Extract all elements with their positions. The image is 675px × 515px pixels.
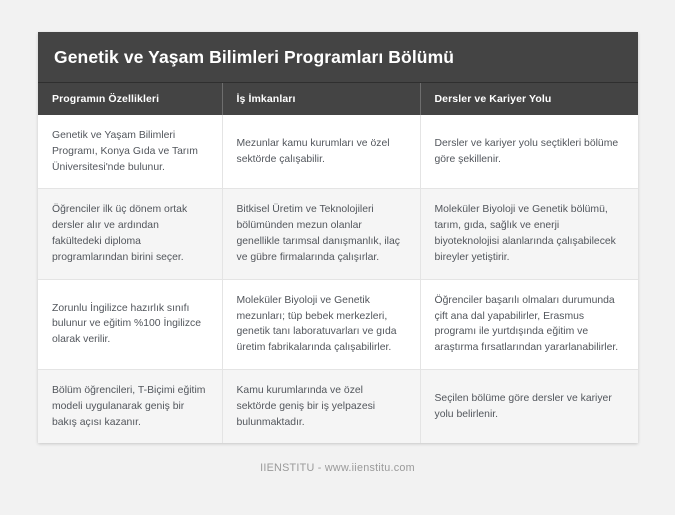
cell-jobs: Bitkisel Üretim ve Teknolojileri bölümün… [222, 189, 420, 279]
column-header-courses: Dersler ve Kariyer Yolu [420, 83, 638, 115]
cell-features: Genetik ve Yaşam Bilimleri Programı, Kon… [38, 115, 222, 189]
table-row: Genetik ve Yaşam Bilimleri Programı, Kon… [38, 115, 638, 189]
column-header-features: Programın Özellikleri [38, 83, 222, 115]
column-header-jobs: İş İmkanları [222, 83, 420, 115]
page-root: Genetik ve Yaşam Bilimleri Programları B… [0, 0, 675, 515]
table-row: Zorunlu İngilizce hazırlık sınıfı bulunu… [38, 279, 638, 369]
cell-features: Öğrenciler ilk üç dönem ortak dersler al… [38, 189, 222, 279]
table-header-row: Programın Özellikleri İş İmkanları Dersl… [38, 83, 638, 115]
table-title: Genetik ve Yaşam Bilimleri Programları B… [38, 32, 638, 83]
table-body: Genetik ve Yaşam Bilimleri Programı, Kon… [38, 115, 638, 443]
cell-jobs: Moleküler Biyoloji ve Genetik mezunları;… [222, 279, 420, 369]
cell-jobs: Kamu kurumlarında ve özel sektörde geniş… [222, 369, 420, 443]
cell-features: Bölüm öğrencileri, T-Biçimi eğitim model… [38, 369, 222, 443]
table-head: Programın Özellikleri İş İmkanları Dersl… [38, 83, 638, 115]
cell-features: Zorunlu İngilizce hazırlık sınıfı bulunu… [38, 279, 222, 369]
cell-courses: Moleküler Biyoloji ve Genetik bölümü, ta… [420, 189, 638, 279]
program-info-table: Programın Özellikleri İş İmkanları Dersl… [38, 83, 638, 443]
footer-credit: IIENSTITU - www.iienstitu.com [0, 462, 675, 474]
cell-courses: Öğrenciler başarılı olmaları durumunda ç… [420, 279, 638, 369]
cell-courses: Seçilen bölüme göre dersler ve kariyer y… [420, 369, 638, 443]
table-row: Öğrenciler ilk üç dönem ortak dersler al… [38, 189, 638, 279]
cell-jobs: Mezunlar kamu kurumları ve özel sektörde… [222, 115, 420, 189]
table-row: Bölüm öğrencileri, T-Biçimi eğitim model… [38, 369, 638, 443]
info-table-card: Genetik ve Yaşam Bilimleri Programları B… [38, 32, 638, 443]
cell-courses: Dersler ve kariyer yolu seçtikleri bölüm… [420, 115, 638, 189]
